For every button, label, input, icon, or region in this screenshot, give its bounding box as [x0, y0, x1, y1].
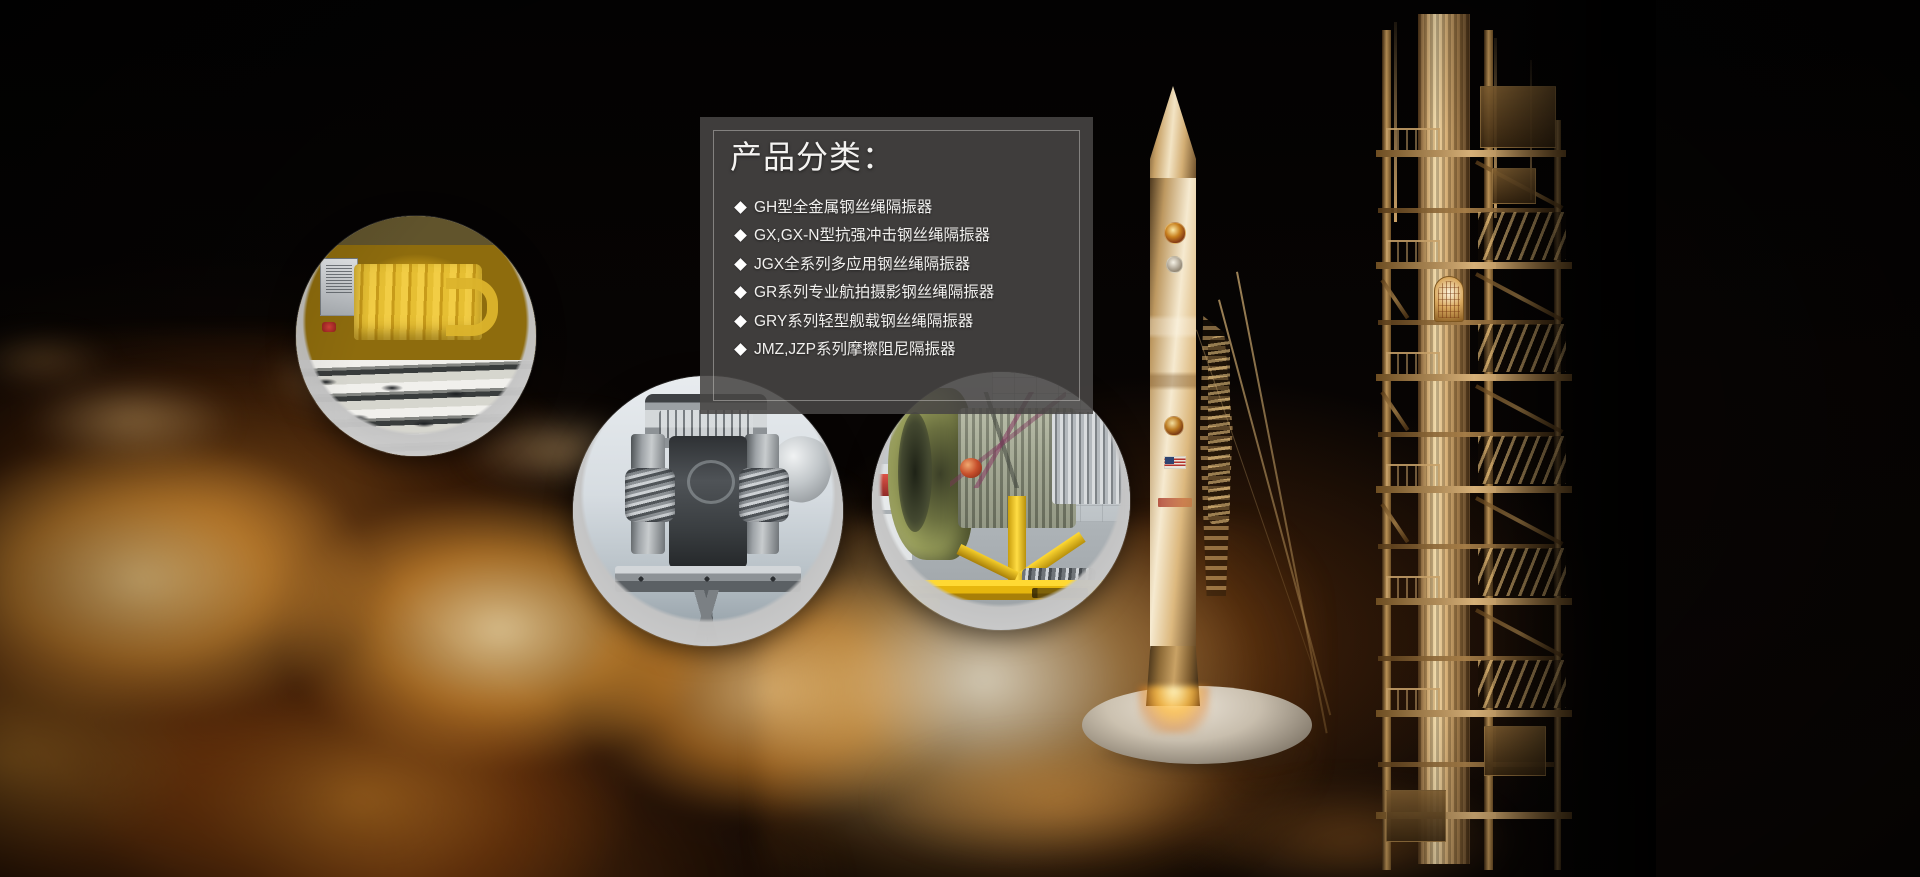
rocket-nose-cone: [1150, 86, 1196, 182]
yellow-cradle-detail: [900, 544, 1122, 616]
product-category-panel: 产品分类： GH型全金属钢丝绳隔振器 GX,GX-N型抗强冲击钢丝绳隔振器 JG…: [700, 117, 1093, 414]
rocket-wordmark: [1158, 498, 1192, 507]
tower-equipment-box: [1386, 790, 1446, 842]
wire-rope-coil-left-detail: [625, 468, 675, 522]
diamond-bullet-icon: [734, 201, 747, 214]
wire-rope-coil-right-detail: [739, 468, 789, 522]
diamond-bullet-icon: [734, 343, 747, 356]
rocket-vehicle: [1124, 86, 1222, 726]
list-item-label: GRY系列轻型舰载钢丝绳隔振器: [754, 314, 973, 330]
tower-railing: [1386, 128, 1440, 150]
panel-title: 产品分类：: [730, 137, 895, 177]
list-item-label: JMZ,JZP系列摩擦阻尼隔振器: [754, 342, 956, 358]
list-item-label: GH型全金属钢丝绳隔振器: [754, 200, 932, 216]
control-panel-detail: [320, 258, 358, 316]
list-item[interactable]: GR系列专业航拍摄影钢丝绳隔振器: [736, 279, 1069, 308]
umbilical-hose: [1208, 336, 1230, 526]
tower-emblem-icon: [1434, 276, 1464, 322]
mission-patch-icon: [1164, 222, 1186, 244]
list-item-label: GR系列专业航拍摄影钢丝绳隔振器: [754, 285, 994, 301]
isolator-mount-photo-content: [573, 376, 843, 646]
mount-legs-detail: [631, 590, 785, 642]
panel-inner-border: 产品分类： GH型全金属钢丝绳隔振器 GX,GX-N型抗强冲击钢丝绳隔振器 JG…: [713, 130, 1080, 401]
list-item[interactable]: JMZ,JZP系列摩擦阻尼隔振器: [736, 336, 1069, 365]
list-item[interactable]: GH型全金属钢丝绳隔振器: [736, 193, 1069, 222]
isolator-base-detail: [296, 360, 536, 456]
tower-mast: [1394, 22, 1397, 222]
cradle-base-bar-detail: [900, 580, 1122, 600]
diamond-bullet-icon: [734, 258, 747, 271]
tower-railing: [1386, 576, 1440, 598]
us-flag-icon: [1164, 456, 1186, 469]
diamond-bullet-icon: [734, 286, 747, 299]
tower-railing: [1386, 352, 1440, 374]
tower-railing: [1386, 240, 1440, 262]
list-item-label: GX,GX-N型抗强冲击钢丝绳隔振器: [754, 228, 990, 244]
list-item[interactable]: JGX全系列多应用钢丝绳隔振器: [736, 250, 1069, 279]
cradle-wheel-detail: [914, 598, 940, 616]
list-item[interactable]: GX,GX-N型抗强冲击钢丝绳隔振器: [736, 222, 1069, 251]
mount-center-body-detail: [669, 436, 747, 568]
cradle-label-plate-detail: [1032, 588, 1088, 598]
secondary-patch-icon: [1164, 416, 1184, 436]
list-item[interactable]: GRY系列轻型舰载钢丝绳隔振器: [736, 307, 1069, 336]
banner-stage: 产品分类： GH型全金属钢丝绳隔振器 GX,GX-N型抗强冲击钢丝绳隔振器 JG…: [0, 0, 1920, 877]
agency-logo-icon: [1166, 256, 1183, 273]
cradle-wheel-detail: [1086, 598, 1112, 616]
red-indicator-detail: [322, 322, 336, 332]
diamond-bullet-icon: [734, 315, 747, 328]
product-photo-generator[interactable]: [296, 216, 536, 456]
product-photo-isolator-mount[interactable]: [573, 376, 843, 646]
diamond-bullet-icon: [734, 229, 747, 242]
tower-shadow-overlay: [1496, 0, 1656, 877]
engine-valve-detail: [960, 458, 982, 478]
product-category-list: GH型全金属钢丝绳隔振器 GX,GX-N型抗强冲击钢丝绳隔振器 JGX全系列多应…: [736, 193, 1069, 364]
rocket-body: [1150, 178, 1196, 650]
launch-service-tower: [1356, 0, 1636, 877]
sky-detail: [581, 596, 633, 636]
list-item-label: JGX全系列多应用钢丝绳隔振器: [754, 257, 970, 273]
mount-base-plate-detail: [615, 566, 801, 592]
exhaust-pipe-detail: [446, 278, 498, 336]
rocket-exhaust-flame: [1138, 686, 1210, 734]
generator-photo-content: [296, 216, 536, 456]
tower-railing: [1386, 688, 1440, 710]
tower-railing: [1386, 464, 1440, 486]
